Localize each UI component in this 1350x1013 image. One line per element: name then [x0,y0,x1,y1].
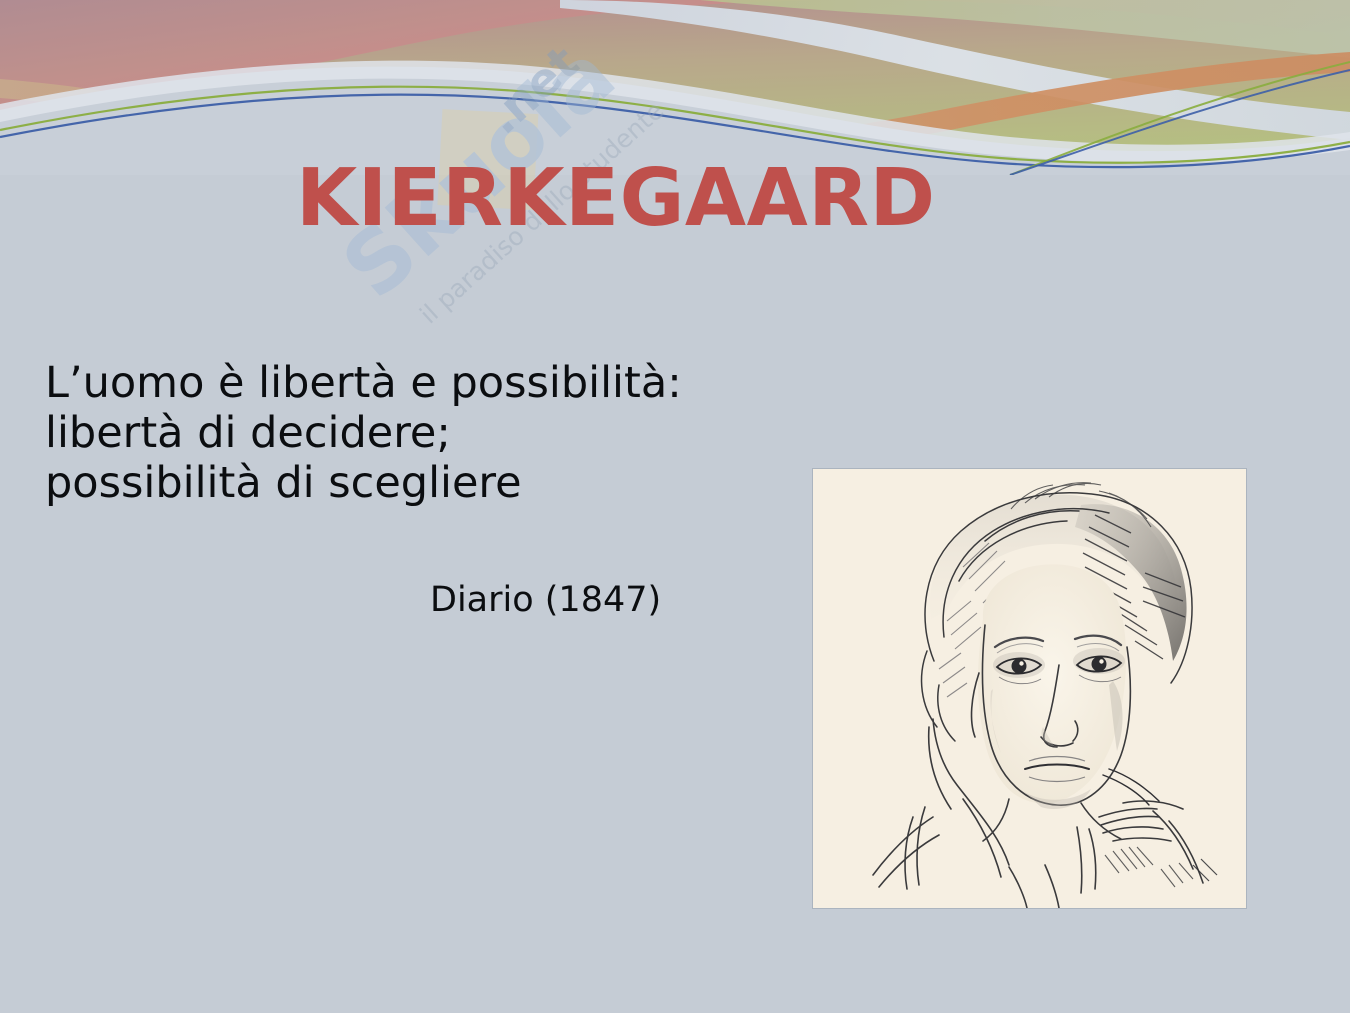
quote-line-1: L’uomo è libertà e possibilità: [45,358,805,408]
quote-text-block: L’uomo è libertà e possibilità: libertà … [45,358,805,508]
quote-line-2: libertà di decidere; [45,408,805,458]
presentation-slide: Skuola .net il paradiso dello studente K… [0,0,1350,1013]
quote-line-3: possibilità di scegliere [45,458,805,508]
svg-text:.net: .net [476,35,589,144]
page-title: KIERKEGAARD [296,159,936,238]
decorative-wave-banner [0,0,1350,175]
quote-attribution: Diario (1847) [430,579,661,621]
kierkegaard-sketch-portrait [813,469,1246,908]
